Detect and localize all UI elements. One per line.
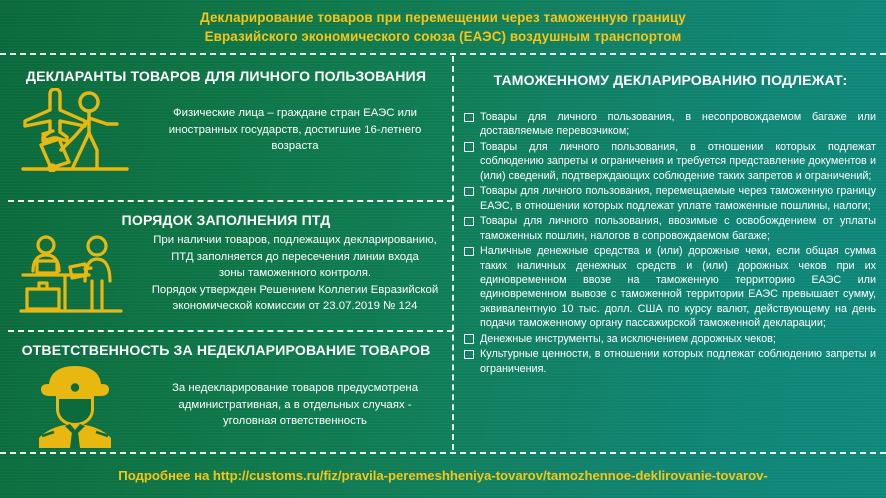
list-item-text: Товары для личного пользования, ввозимые… — [480, 215, 876, 241]
panel-ptd-text-line-3: зоны таможенного контроля. — [150, 265, 440, 282]
list-item: Наличные денежные средства и (или) дорож… — [463, 244, 876, 331]
list-item: Культурные ценности, в отношении которых… — [463, 347, 876, 376]
panel-declarants: ДЕКЛАРАНТЫ ТОВАРОВ ДЛЯ ЛИЧНОГО ПОЛЬЗОВАН… — [0, 54, 452, 200]
declaration-checklist: Товары для личного пользования, в несопр… — [455, 88, 886, 376]
right-column: ТАМОЖЕННОМУ ДЕКЛАРИРОВАНИЮ ПОДЛЕЖАТ: Тов… — [455, 54, 886, 452]
list-item: Товары для личного пользования, ввозимые… — [463, 214, 876, 243]
list-item: Товары для личного пользования, в несопр… — [463, 110, 876, 139]
divider-header-bottom — [0, 53, 886, 55]
list-item-text: Культурные ценности, в отношении которых… — [480, 348, 876, 374]
infographic-poster: Декларирование товаров при перемещении ч… — [0, 0, 886, 498]
panel-declarants-body: Физические лица – граждане стран ЕАЭС ил… — [0, 88, 452, 172]
list-item: Денежные инструменты, за исключением дор… — [463, 332, 876, 346]
checkbox-icon — [464, 113, 474, 123]
list-item: Товары для личного пользования, перемеща… — [463, 184, 876, 213]
list-item-text: Товары для личного пользования, в несопр… — [480, 111, 876, 137]
panel-declarants-text-line-2: иностранных государств, достигшие 16-лет… — [150, 122, 440, 155]
divider-left-panel-2 — [8, 330, 453, 332]
panel-ptd-text-line-5: экономической комиссии от 23.07.2019 № 1… — [150, 298, 440, 315]
panel-liability: ОТВЕТСТВЕННОСТЬ ЗА НЕДЕКЛАРИРОВАНИЕ ТОВА… — [0, 330, 452, 452]
list-item-text: Товары для личного пользования, в отноше… — [480, 141, 876, 182]
panel-liability-body: За недекларирование товаров предусмотрен… — [0, 362, 452, 448]
panel-declarants-title: ДЕКЛАРАНТЫ ТОВАРОВ ДЛЯ ЛИЧНОГО ПОЛЬЗОВАН… — [0, 54, 452, 84]
checkbox-icon — [464, 142, 474, 152]
right-column-title: ТАМОЖЕННОМУ ДЕКЛАРИРОВАНИЮ ПОДЛЕЖАТ: — [455, 54, 886, 88]
checkbox-icon — [464, 350, 474, 360]
panel-ptd-body: При наличии товаров, подлежащих декларир… — [0, 232, 452, 315]
poster-header: Декларирование товаров при перемещении ч… — [0, 0, 886, 54]
header-title-line-1: Декларирование товаров при перемещении ч… — [200, 8, 686, 27]
panel-ptd-text: При наличии товаров, подлежащих декларир… — [150, 232, 452, 315]
panel-declarants-text: Физические лица – граждане стран ЕАЭС ил… — [150, 105, 452, 155]
list-item-text: Наличные денежные средства и (или) дорож… — [480, 245, 876, 329]
panel-liability-text-line-1: За недекларирование товаров предусмотрен… — [150, 380, 440, 397]
divider-footer-top — [0, 452, 886, 454]
checkbox-icon — [464, 247, 474, 257]
traveler-with-plane-icon — [0, 88, 150, 172]
panel-liability-text-line-2: административная, а в отдельных случаях … — [150, 397, 440, 414]
panel-liability-text-line-3: уголовная ответственность — [150, 413, 440, 430]
header-title-line-2: Евразийского экономического союза (ЕАЭС)… — [205, 27, 682, 46]
footer-url-text[interactable]: Подробнее на http://customs.ru/fiz/pravi… — [118, 468, 767, 483]
panel-ptd-title: ПОРЯДОК ЗАПОЛНЕНИЯ ПТД — [0, 200, 452, 228]
panel-ptd-text-line-4: Порядок утвержден Решением Коллегии Евра… — [150, 282, 440, 299]
poster-footer: Подробнее на http://customs.ru/fiz/pravi… — [0, 452, 886, 498]
divider-columns — [452, 56, 454, 450]
list-item-text: Денежные инструменты, за исключением дор… — [480, 333, 776, 345]
panel-liability-title: ОТВЕТСТВЕННОСТЬ ЗА НЕДЕКЛАРИРОВАНИЕ ТОВА… — [0, 330, 452, 358]
checkbox-icon — [464, 217, 474, 227]
panel-ptd-text-line-1: При наличии товаров, подлежащих декларир… — [150, 232, 440, 249]
panel-liability-text: За недекларирование товаров предусмотрен… — [150, 380, 452, 430]
panel-declarants-text-line-1: Физические лица – граждане стран ЕАЭС ил… — [150, 105, 440, 122]
divider-left-panel-1 — [8, 200, 453, 202]
left-column: ДЕКЛАРАНТЫ ТОВАРОВ ДЛЯ ЛИЧНОГО ПОЛЬЗОВАН… — [0, 54, 452, 452]
customs-desk-icon — [0, 233, 150, 313]
checkbox-icon — [464, 187, 474, 197]
panel-ptd: ПОРЯДОК ЗАПОЛНЕНИЯ ПТД — [0, 200, 452, 330]
panel-ptd-text-line-2: ПТД заполняется до пересечения линии вхо… — [150, 249, 440, 266]
customs-officer-icon — [0, 362, 150, 448]
checkbox-icon — [464, 334, 474, 344]
list-item-text: Товары для личного пользования, перемеща… — [480, 185, 876, 211]
list-item: Товары для личного пользования, в отноше… — [463, 140, 876, 183]
